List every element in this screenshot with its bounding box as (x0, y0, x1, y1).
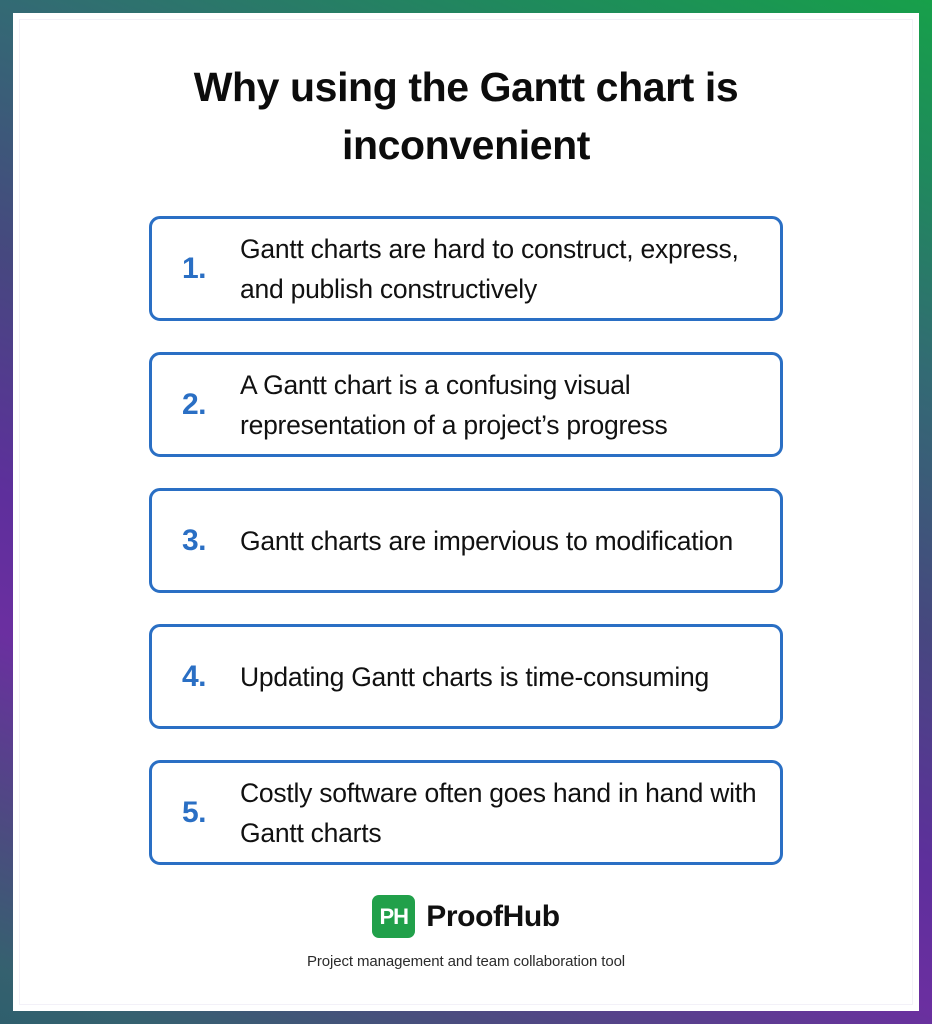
list-item-number: 1. (182, 254, 240, 284)
list-item-text: Gantt charts are impervious to modificat… (240, 521, 764, 561)
list-item: 3. Gantt charts are impervious to modifi… (149, 488, 783, 593)
list-item-text: Updating Gantt charts is time-consuming (240, 657, 764, 697)
list-item: 4. Updating Gantt charts is time-consumi… (149, 624, 783, 729)
list-item-number: 5. (182, 798, 240, 828)
list-item: 5. Costly software often goes hand in ha… (149, 760, 783, 865)
page-title: Why using the Gantt chart is inconvenien… (146, 58, 786, 174)
list-item-number: 3. (182, 526, 240, 556)
list-item-text: Gantt charts are hard to construct, expr… (240, 229, 764, 310)
list-item: 2. A Gantt chart is a confusing visual r… (149, 352, 783, 457)
list-item-number: 4. (182, 662, 240, 692)
brand-tagline: Project management and team collaboratio… (307, 953, 625, 970)
poster-frame: Why using the Gantt chart is inconvenien… (0, 0, 932, 1024)
reasons-list: 1. Gantt charts are hard to construct, e… (149, 216, 783, 865)
list-item: 1. Gantt charts are hard to construct, e… (149, 216, 783, 321)
list-item-text: Costly software often goes hand in hand … (240, 773, 764, 854)
brand-logo: PH ProofHub (372, 895, 559, 938)
proofhub-logo-icon: PH (372, 895, 415, 938)
poster-content: Why using the Gantt chart is inconvenien… (13, 13, 919, 1011)
list-item-text: A Gantt chart is a confusing visual repr… (240, 365, 764, 446)
brand-name: ProofHub (426, 900, 559, 934)
footer: PH ProofHub Project management and team … (307, 895, 625, 970)
list-item-number: 2. (182, 390, 240, 420)
